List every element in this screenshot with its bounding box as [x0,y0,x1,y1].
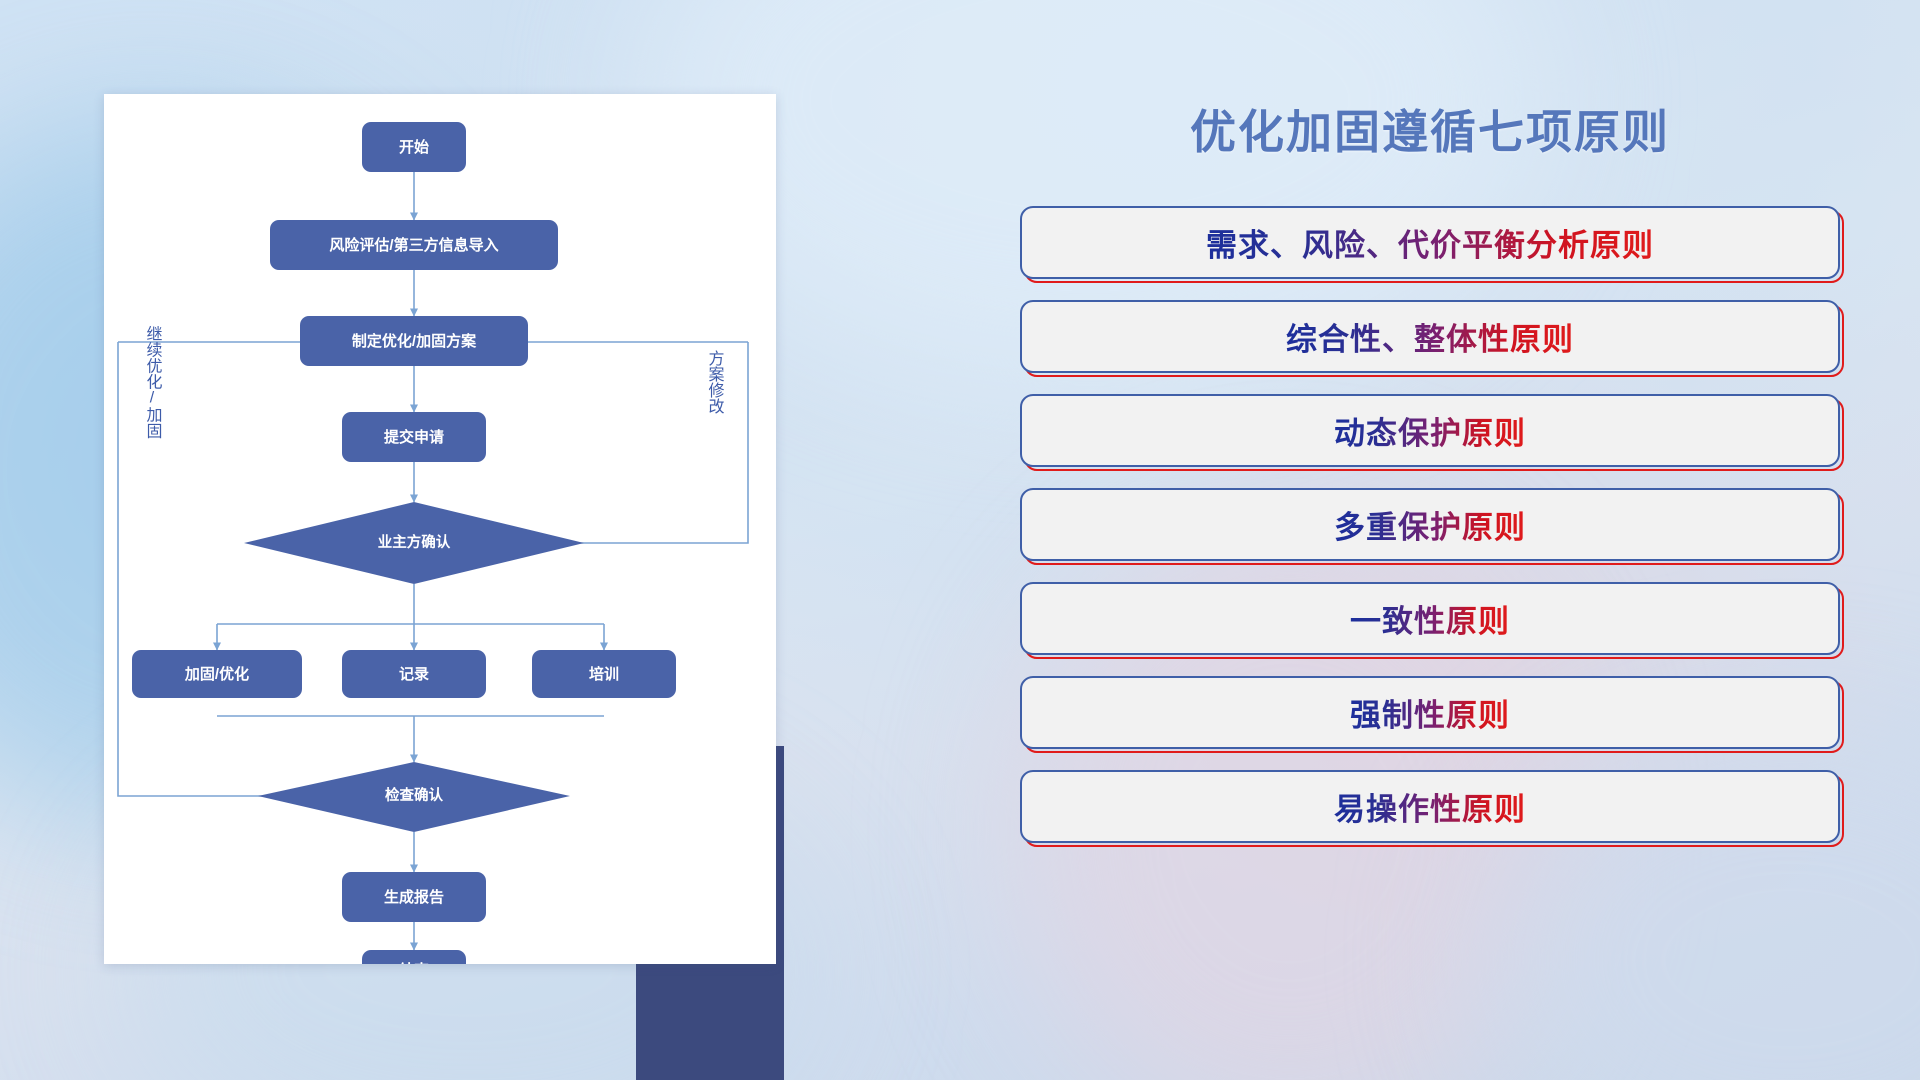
flowchart-diagram: 开始 风险评估/第三方信息导入 制定优化/加固方案 提交申请 业主方确认 [104,94,776,964]
flow-node-generate-report[interactable]: 生成报告 [342,872,486,922]
flow-node-risk-assessment-label: 风险评估/第三方信息导入 [329,236,498,254]
flow-node-generate-report-label: 生成报告 [384,888,444,906]
flow-node-make-plan[interactable]: 制定优化/加固方案 [300,316,528,366]
flow-node-make-plan-label: 制定优化/加固方案 [352,332,477,350]
flow-node-end-label: 结束 [399,961,430,964]
principle-item-7-body: 易操作性原则 [1020,770,1840,843]
principle-item-1-body: 需求、风险、代价平衡分析原则 [1020,206,1840,279]
principle-item-5[interactable]: 一致性原则 [1020,582,1840,655]
principles-title: 优化加固遵循七项原则 [1080,96,1780,162]
flow-node-reinforce-optimize-label: 加固/优化 [184,665,249,683]
principle-item-6-label: 强制性原则 [1350,690,1510,735]
flow-node-training-label: 培训 [589,665,619,683]
flow-node-owner-confirm[interactable]: 业主方确认 [244,502,584,584]
principle-item-5-label: 一致性原则 [1350,596,1510,641]
flow-node-training[interactable]: 培训 [532,650,676,698]
principle-item-1[interactable]: 需求、风险、代价平衡分析原则 [1020,206,1840,279]
flow-node-end[interactable]: 结束 [362,950,466,964]
principle-item-4-label: 多重保护原则 [1334,502,1526,547]
principle-item-4-body: 多重保护原则 [1020,488,1840,561]
flow-node-start[interactable]: 开始 [362,122,466,172]
principle-item-7-label: 易操作性原则 [1334,784,1526,829]
flow-node-check-confirm-label: 检查确认 [385,786,443,804]
principle-item-3-label: 动态保护原则 [1334,408,1526,453]
principle-item-3-body: 动态保护原则 [1020,394,1840,467]
principle-item-5-body: 一致性原则 [1020,582,1840,655]
principle-item-6-body: 强制性原则 [1020,676,1840,749]
principle-item-3[interactable]: 动态保护原则 [1020,394,1840,467]
flow-node-start-label: 开始 [399,138,429,156]
principle-item-2[interactable]: 综合性、整体性原则 [1020,300,1840,373]
principle-item-1-label: 需求、风险、代价平衡分析原则 [1206,220,1654,265]
flow-edge-label-left-loop: 继续优化/加固 [144,326,163,439]
flow-node-risk-assessment[interactable]: 风险评估/第三方信息导入 [270,220,558,270]
principle-item-2-label: 综合性、整体性原则 [1286,314,1574,359]
flow-node-submit-application[interactable]: 提交申请 [342,412,486,462]
principle-item-2-body: 综合性、整体性原则 [1020,300,1840,373]
flowchart-card: 开始 风险评估/第三方信息导入 制定优化/加固方案 提交申请 业主方确认 [104,94,776,964]
flow-node-owner-confirm-label: 业主方确认 [378,533,451,551]
flow-node-check-confirm[interactable]: 检查确认 [258,762,570,832]
principles-list: 需求、风险、代价平衡分析原则 综合性、整体性原则 动态保护原则 多重保护原则 [1020,206,1840,843]
flow-node-record[interactable]: 记录 [342,650,486,698]
flow-node-submit-application-label: 提交申请 [384,428,444,446]
slide-canvas: 开始 风险评估/第三方信息导入 制定优化/加固方案 提交申请 业主方确认 [0,0,1920,1080]
principle-item-4[interactable]: 多重保护原则 [1020,488,1840,561]
flow-node-reinforce-optimize[interactable]: 加固/优化 [132,650,302,698]
principle-item-6[interactable]: 强制性原则 [1020,676,1840,749]
flow-edge-label-right-loop: 方案修改 [706,350,725,414]
principle-item-7[interactable]: 易操作性原则 [1020,770,1840,843]
principles-panel: 优化加固遵循七项原则 需求、风险、代价平衡分析原则 综合性、整体性原则 动态保护… [1020,96,1840,1016]
flowchart-panel: 开始 风险评估/第三方信息导入 制定优化/加固方案 提交申请 业主方确认 [104,94,784,984]
flow-node-record-label: 记录 [399,666,429,683]
